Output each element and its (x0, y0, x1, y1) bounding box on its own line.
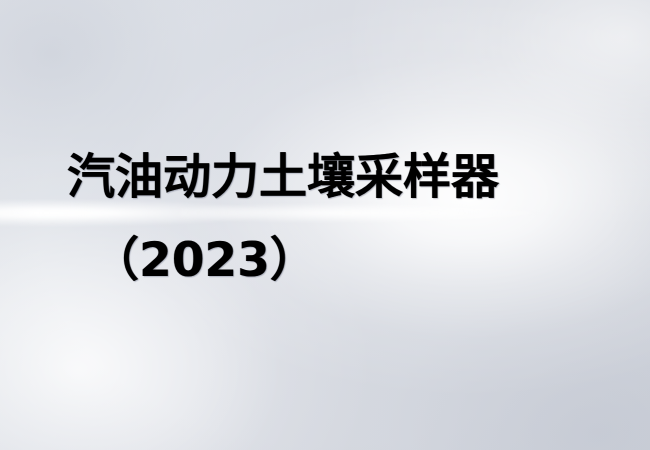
slide-title-primary: 汽油动力土壤采样器 (67, 148, 499, 206)
slide-title-block: 汽油动力土壤采样器 （2023） (0, 0, 650, 450)
title-slide: 汽油动力土壤采样器 （2023） (0, 0, 650, 450)
slide-title-year: （2023） (92, 232, 317, 290)
